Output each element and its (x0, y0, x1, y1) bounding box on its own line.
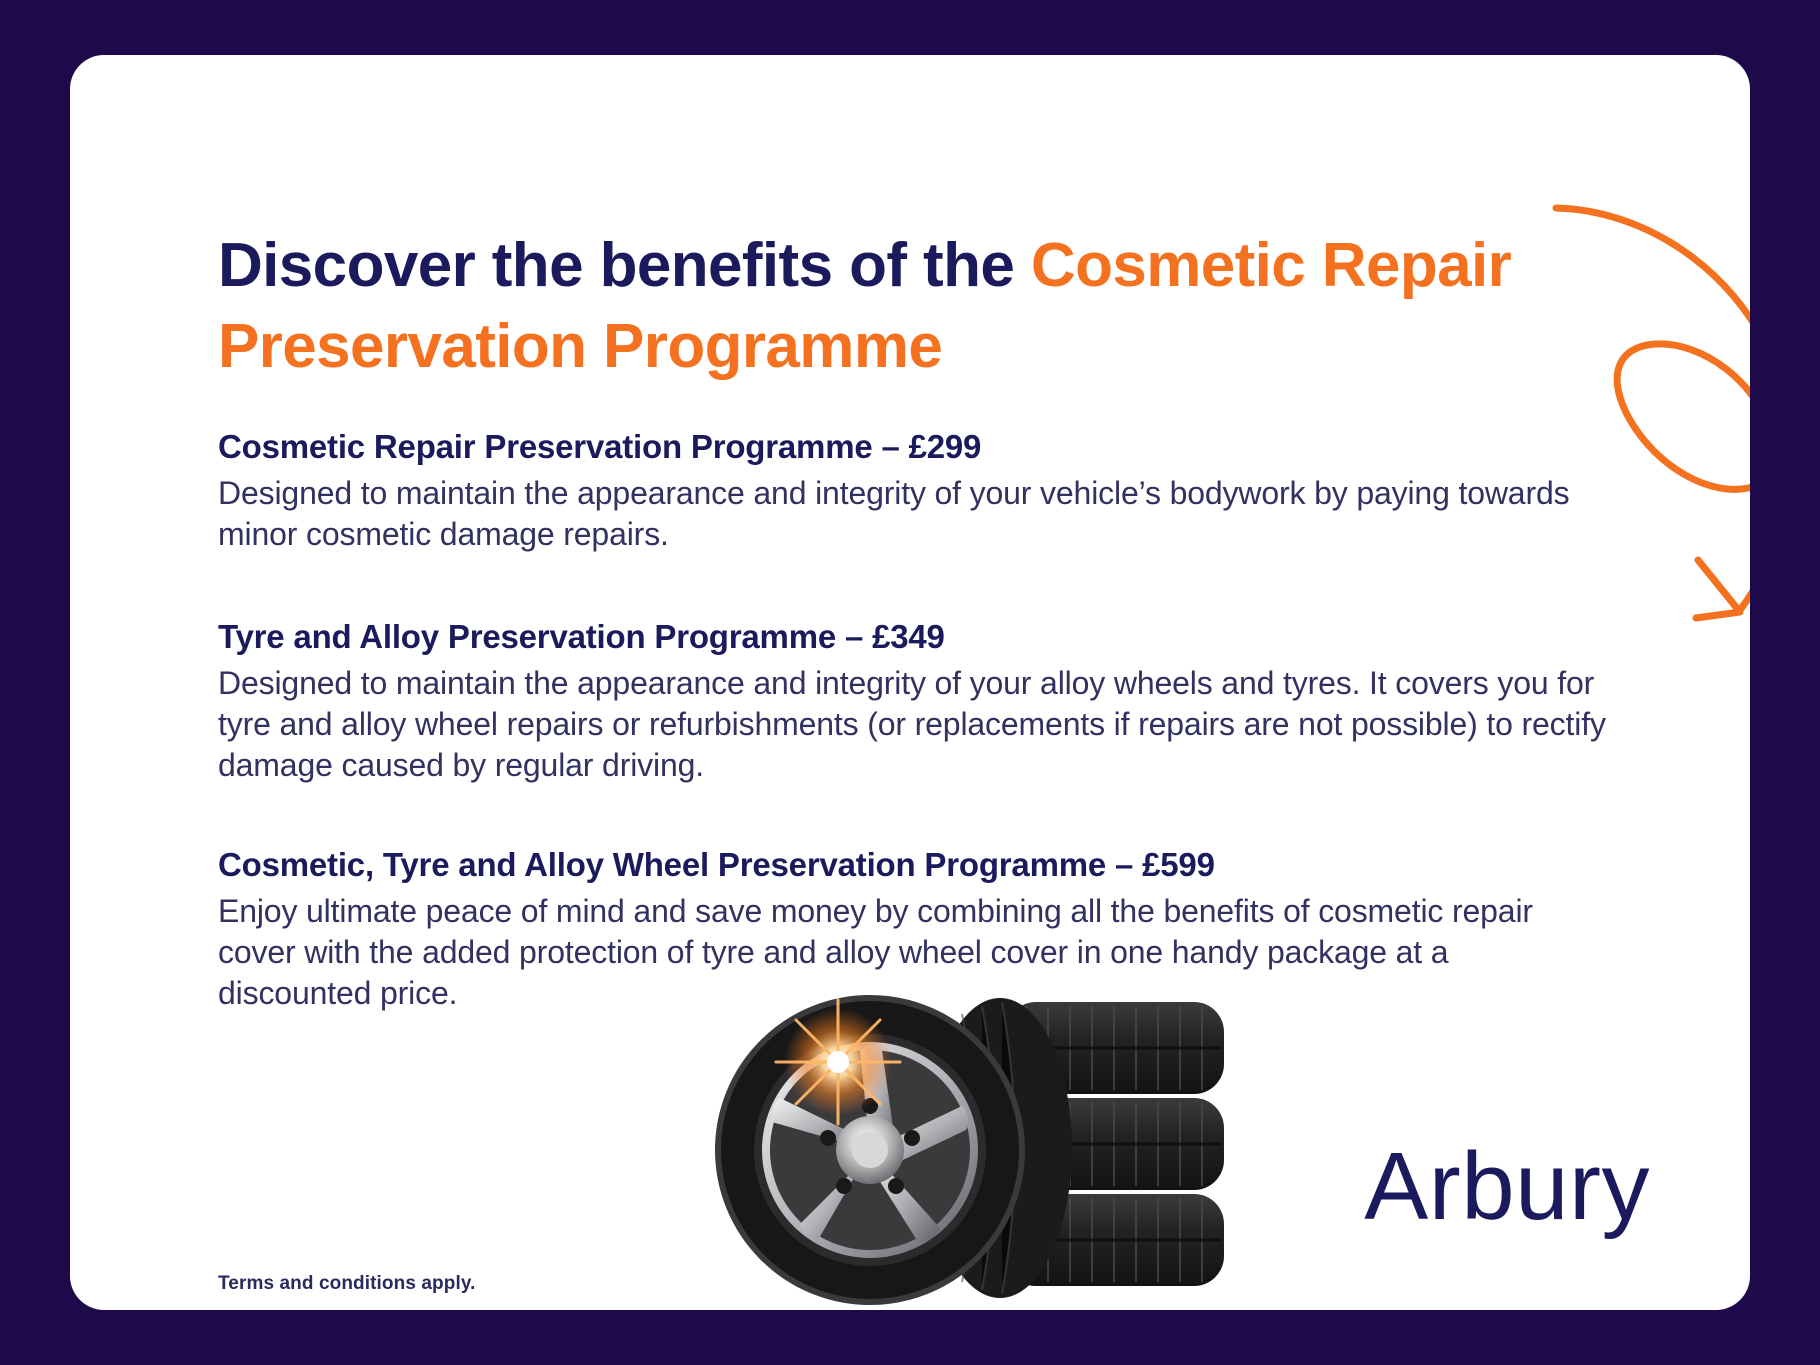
headline-navy-part: Discover the benefits of the (218, 231, 1031, 300)
section-body: Designed to maintain the appearance and … (218, 663, 1608, 786)
section-body: Designed to maintain the appearance and … (218, 473, 1608, 555)
page-title: Discover the benefits of the Cosmetic Re… (218, 225, 1538, 387)
section-heading: Cosmetic, Tyre and Alloy Wheel Preservat… (218, 845, 1608, 885)
arbury-logo: Arbury (1364, 1139, 1650, 1235)
section-heading: Tyre and Alloy Preservation Programme – … (218, 617, 1608, 657)
poster-canvas: Discover the benefits of the Cosmetic Re… (0, 0, 1820, 1365)
swirl-arrow-icon (1550, 180, 1750, 630)
tyres-illustration (710, 980, 1230, 1310)
programme-section-2: Tyre and Alloy Preservation Programme – … (218, 617, 1608, 786)
programme-section-1: Cosmetic Repair Preservation Programme –… (218, 427, 1608, 555)
terms-and-conditions-note: Terms and conditions apply. (218, 1273, 475, 1295)
content-card: Discover the benefits of the Cosmetic Re… (70, 55, 1750, 1310)
section-heading: Cosmetic Repair Preservation Programme –… (218, 427, 1608, 467)
